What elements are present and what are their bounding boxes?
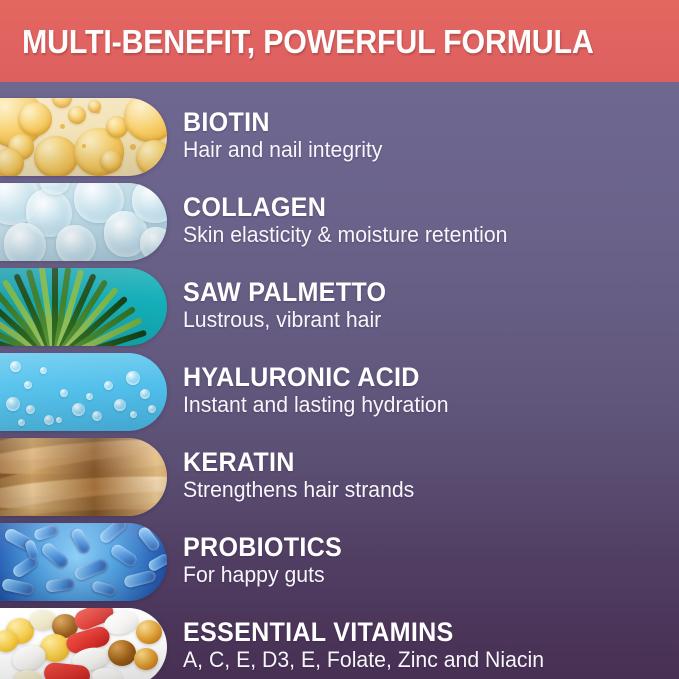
golden-oil-bubbles-icon — [0, 98, 167, 176]
ingredient-description: Skin elasticity & moisture retention — [183, 223, 507, 248]
ingredient-title: COLLAGEN — [183, 194, 496, 222]
ingredient-title: BIOTIN — [183, 109, 375, 137]
collagen-text-block: COLLAGEN Skin elasticity & moisture rete… — [183, 194, 519, 249]
biotin-thumbnail — [0, 98, 167, 176]
list-item: COLLAGEN Skin elasticity & moisture rete… — [0, 183, 679, 261]
blue-gel-cells-icon — [0, 183, 167, 261]
list-item: KERATIN Strengthens hair strands — [0, 438, 679, 516]
ingredient-title: KERATIN — [183, 449, 406, 477]
list-item: ESSENTIAL VITAMINS A, C, E, D3, E, Folat… — [0, 608, 679, 679]
header-banner: MULTI-BENEFIT, POWERFUL FORMULA — [0, 0, 679, 82]
water-droplets-icon — [0, 353, 167, 431]
hyaluronic-acid-thumbnail — [0, 353, 167, 431]
ingredient-description: Lustrous, vibrant hair — [183, 308, 394, 333]
blue-rod-bacteria-icon — [0, 523, 167, 601]
keratin-thumbnail — [0, 438, 167, 516]
ingredient-description: Hair and nail integrity — [183, 138, 382, 163]
ingredient-title: SAW PALMETTO — [183, 279, 386, 307]
list-item: SAW PALMETTO Lustrous, vibrant hair — [0, 268, 679, 346]
collagen-thumbnail — [0, 183, 167, 261]
ingredient-description: Strengthens hair strands — [183, 478, 414, 503]
ingredient-title: ESSENTIAL VITAMINS — [183, 619, 531, 647]
ingredient-title: PROBIOTICS — [183, 534, 342, 562]
assorted-pills-capsules-icon — [0, 608, 167, 679]
ingredient-list: BIOTIN Hair and nail integrity COLLAGEN … — [0, 82, 679, 679]
probiotics-thumbnail — [0, 523, 167, 601]
product-benefits-infographic: MULTI-BENEFIT, POWERFUL FORMULA — [0, 0, 679, 679]
probiotics-text-block: PROBIOTICS For happy guts — [183, 534, 354, 589]
hyaluronic-acid-text-block: HYALURONIC ACID Instant and lasting hydr… — [183, 364, 458, 419]
biotin-text-block: BIOTIN Hair and nail integrity — [183, 109, 390, 164]
page-title: MULTI-BENEFIT, POWERFUL FORMULA — [22, 25, 594, 58]
saw-palmetto-text-block: SAW PALMETTO Lustrous, vibrant hair — [183, 279, 402, 334]
ingredient-title: HYALURONIC ACID — [183, 364, 439, 392]
ingredient-description: For happy guts — [183, 563, 348, 588]
ingredient-description: A, C, E, D3, E, Folate, Zinc and Niacin — [183, 648, 544, 673]
essential-vitamins-text-block: ESSENTIAL VITAMINS A, C, E, D3, E, Folat… — [183, 619, 557, 674]
saw-palmetto-thumbnail — [0, 268, 167, 346]
list-item: PROBIOTICS For happy guts — [0, 523, 679, 601]
list-item: BIOTIN Hair and nail integrity — [0, 98, 679, 176]
essential-vitamins-thumbnail — [0, 608, 167, 679]
list-item: HYALURONIC ACID Instant and lasting hydr… — [0, 353, 679, 431]
ingredient-description: Instant and lasting hydration — [183, 393, 449, 418]
wavy-golden-hair-icon — [0, 438, 167, 516]
green-palm-fronds-icon — [0, 268, 167, 346]
keratin-text-block: KERATIN Strengthens hair strands — [183, 449, 423, 504]
